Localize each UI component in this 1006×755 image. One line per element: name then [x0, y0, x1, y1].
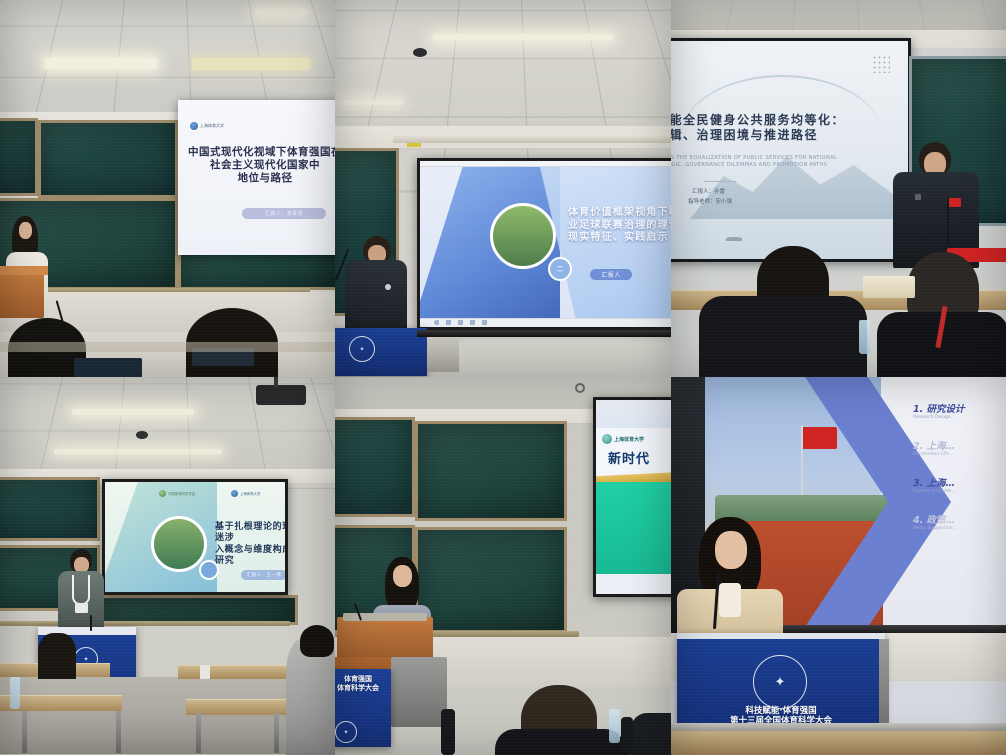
desk-leg-a	[22, 711, 27, 753]
slide-logo-5: 上海体育大学	[602, 434, 644, 444]
slide-title-5: 新时代	[608, 452, 650, 468]
university-logo-icon	[190, 122, 198, 130]
slide-title-cn-3: 赋能全民健身公共服务均等化： 逻辑、治理困境与推进路径	[671, 113, 856, 143]
conference-emblem-icon: ✦	[753, 655, 807, 709]
slide-header-5	[596, 400, 671, 428]
slide-title-1: 中国式现代化视域下体育强国在 社会主义现代化国家中 地位与路径	[186, 146, 335, 185]
slide-title-2: 体育价值框架视角下职 业足球联赛治理的理论 现实特征、实践启示	[568, 207, 671, 245]
badge-card-icon	[75, 603, 88, 613]
agenda-en: Research Design	[913, 415, 1006, 420]
agenda-cn: 上海…	[927, 441, 956, 452]
photo-collage: 上海体育大学 中国式现代化视域下体育强国在 社会主义现代化国家中 地位与路径 汇…	[0, 0, 1006, 755]
agenda-num: 2.	[913, 441, 923, 452]
presenter-2	[345, 236, 407, 332]
slide-title-en-3: ...TES THE EQUALIZATION OF PUBLIC SERVIC…	[671, 155, 854, 169]
podium-banner-text-5: 体育强国 体育科学大会	[335, 675, 391, 693]
projection-screen-3: 赋能全民健身公共服务均等化： 逻辑、治理困境与推进路径 ...TES THE E…	[671, 38, 911, 262]
projection-screen-1: 上海体育大学 中国式现代化视域下体育强国在 社会主义现代化国家中 地位与路径 汇…	[178, 100, 335, 255]
agenda-cn: 政策…	[927, 515, 956, 526]
front-desk-frame-6	[671, 723, 1006, 731]
screen-mount-rail	[393, 134, 671, 143]
presenter-4	[58, 549, 104, 635]
agenda-num: 1.	[913, 404, 923, 415]
slide-divider	[704, 181, 736, 182]
slide-presenter-pill-4: 汇报人：王一博	[241, 570, 287, 580]
ceiling-lamp-far	[255, 8, 307, 15]
agenda-item: 4. 政策… Policy Suggestion…	[913, 512, 1006, 531]
agenda-cn: 研究设计	[927, 404, 965, 415]
podium-banner-5: 体育强国 体育科学大会 ✦	[335, 669, 391, 747]
blackboard-left-4	[0, 477, 100, 541]
desk-leg-d	[274, 713, 279, 753]
slide-band-green	[596, 482, 671, 580]
desk-leg-b	[116, 711, 121, 753]
water-bottle	[859, 320, 870, 354]
microphone-4	[90, 615, 92, 631]
slide-logo-b-4: 上海体育大学	[231, 490, 260, 497]
attendee-head-right	[300, 625, 334, 657]
slide-presenter-3: 汇报人：孙雷	[692, 189, 725, 196]
projection-screen-4: 中国体育科学学会 上海体育大学 基于扎根理论的球迷涉 入概念与维度构成研究 汇报…	[102, 479, 288, 595]
slide-badge-circle: 二	[548, 257, 572, 281]
projection-screen-2: 二 体育价值框架视角下职 业足球联赛治理的理论 现实特征、实践启示 汇报人	[417, 158, 671, 330]
audience-desk	[0, 342, 335, 352]
photo-panel-6: 1. 研究设计 Research Design 2. 上海… Unintende…	[671, 377, 1006, 755]
agenda-num: 3.	[913, 478, 923, 489]
flag-pin-icon	[949, 198, 961, 207]
china-flag-icon	[803, 427, 837, 449]
lectern-5	[337, 617, 433, 659]
logo-patch-icon	[915, 194, 921, 200]
slide-logo-b-text: 上海体育大学	[240, 491, 260, 496]
projection-screen-5: 上海体育大学 新时代	[593, 397, 671, 597]
cssa-logo-icon	[159, 490, 166, 497]
photo-panel-2: 二 体育价值框架视角下职 业足球联赛治理的理论 现实特征、实践启示 汇报人 ✦	[335, 0, 671, 377]
blackboard-left	[0, 118, 38, 196]
podium-6: ✦ 科技赋能·体育强国 第十三届全国体育科学大会	[677, 633, 885, 731]
screen-bracket-icon	[575, 383, 585, 393]
floor-mic-5	[441, 709, 455, 755]
blackboard-lower-5b	[415, 527, 567, 633]
blackboard-main-5	[335, 417, 415, 517]
photo-panel-1: 上海体育大学 中国式现代化视域下体育强国在 社会主义现代化国家中 地位与路径 汇…	[0, 0, 335, 377]
ceiling-lamp-a	[72, 409, 194, 415]
cup-icon	[200, 665, 210, 679]
projector-arm	[274, 377, 278, 387]
presenter-face	[19, 222, 32, 239]
university-logo-icon	[602, 434, 612, 444]
presenter-badge-icon	[385, 284, 391, 290]
agenda-en: Causes of Uninte…	[913, 489, 1006, 494]
ceiling-projector	[256, 385, 306, 405]
photo-panel-5: 上海体育大学 新时代 体育强国 体育科学大会 ✦	[335, 377, 671, 755]
podium-top-ledge-6	[677, 633, 885, 639]
slide-presenter-pill-1: 汇报人：李青青	[242, 208, 326, 219]
slide-advisor-3: 指导老师：安小强	[688, 199, 732, 206]
slide-photo-circle-4	[151, 516, 207, 572]
agenda-en: Policy Suggestion…	[913, 526, 1006, 531]
lanyard-icon	[72, 575, 90, 605]
slide-logo-a-4: 中国体育科学学会	[159, 490, 195, 497]
audience-laptop-left	[74, 358, 142, 377]
podium-side-rail	[879, 639, 889, 733]
slide-badge-text: 二	[557, 264, 564, 274]
rail-marker	[407, 143, 421, 147]
slide-logo-text: 上海体育大学	[200, 123, 224, 129]
agenda-en: Unintended Effe…	[913, 452, 1006, 457]
slide-agenda-list: 1. 研究设计 Research Design 2. 上海… Unintende…	[913, 401, 1006, 531]
slide-logo: 上海体育大学	[190, 122, 224, 130]
ceiling-lamp-warm	[192, 58, 310, 70]
taskbar-dots	[434, 320, 494, 325]
lectern-top-1	[0, 266, 48, 275]
agenda-item: 3. 上海… Causes of Uninte…	[913, 475, 1006, 494]
hall-floor	[0, 677, 335, 754]
floor-mic-5b	[621, 717, 633, 755]
blackboard-main-5b	[415, 421, 567, 521]
ceiling-lamp	[45, 58, 157, 69]
presenter-face	[393, 565, 412, 587]
judge-body-left	[699, 296, 867, 377]
agenda-item: 2. 上海… Unintended Effe…	[913, 438, 1006, 457]
slide-photo-circle	[490, 203, 556, 269]
audience-body-5	[495, 729, 625, 755]
lectern-laptop-5	[343, 613, 427, 621]
audience-shoulder-right	[631, 713, 671, 755]
seated-attendee-left	[38, 633, 76, 679]
front-desk-6	[671, 729, 1006, 755]
ceiling-lamp-b	[343, 100, 403, 105]
slide-logo-text-5: 上海体育大学	[614, 436, 644, 443]
ceiling-lamp-a	[433, 34, 613, 40]
presenter-6	[677, 517, 783, 643]
slide-dot-grid	[872, 55, 890, 73]
photo-panel-3: 赋能全民健身公共服务均等化： 逻辑、治理困境与推进路径 ...TES THE E…	[671, 0, 1006, 377]
blouse-collar	[719, 583, 741, 617]
agenda-num: 4.	[913, 515, 923, 526]
photo-panel-4: 中国体育科学学会 上海体育大学 基于扎根理论的球迷涉 入概念与维度构成研究 汇报…	[0, 377, 335, 755]
blackboard-center	[38, 120, 178, 198]
presenter-body	[345, 260, 407, 336]
water-bottle-4	[10, 677, 20, 709]
ceiling-vent-icon	[136, 431, 148, 439]
chalk-rail-4	[0, 621, 290, 626]
ink-boat	[726, 237, 742, 241]
slide-title-4: 基于扎根理论的球迷涉 入概念与维度构成研究	[215, 522, 288, 567]
ceiling-lamp-b	[54, 449, 222, 454]
desk-leg-c	[196, 713, 201, 753]
lectern-1	[0, 272, 44, 318]
microphone-3	[947, 198, 949, 244]
conference-emblem-icon: ✦	[335, 721, 357, 743]
ceiling-speaker-icon	[413, 48, 427, 57]
paper-stack	[863, 276, 915, 298]
agenda-item: 1. 研究设计 Research Design	[913, 401, 1006, 420]
slide-presenter-pill-2: 汇报人	[590, 269, 632, 280]
presenter-face	[715, 531, 747, 569]
agenda-cn: 上海…	[927, 478, 956, 489]
slide-footer-5	[596, 574, 671, 594]
podium-equipment-5	[391, 657, 447, 727]
water-bottle-5	[609, 709, 620, 743]
slide-toolbar	[420, 161, 671, 167]
conference-emblem-icon: ✦	[349, 336, 375, 362]
slide-logo-a-text: 中国体育科学学会	[168, 491, 195, 496]
screen-roller-bar	[417, 330, 671, 337]
university-logo-icon	[231, 490, 238, 497]
podium-2: ✦	[335, 328, 427, 376]
